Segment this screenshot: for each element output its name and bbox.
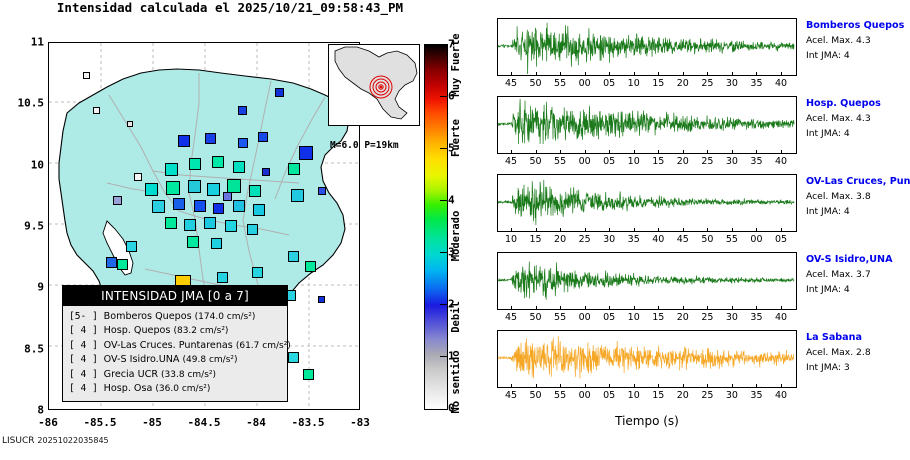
time-tick-label: 50 [701,234,713,245]
time-tick-mark [781,72,782,76]
time-tick-mark [560,72,561,76]
time-tick-mark [585,384,586,388]
time-tick-mark [732,228,733,232]
time-tick-mark [634,228,635,232]
legend-station-name: Grecia UCR [104,369,161,380]
time-tick-label: 35 [750,78,762,89]
station-intensity-marker[interactable] [173,198,185,210]
station-info: Hosp. QueposAcel. Max. 4.3Int JMA: 4 [806,98,881,139]
magnitude-depth-caption: M=6.0 P=19km [330,140,399,151]
lon-tick: -85 [142,416,162,429]
time-tick-label: 30 [726,312,738,323]
time-tick-label: 45 [505,78,517,89]
legend-row: [ 4 ] Hosp. Osa (36.0 cm/s²) [69,382,282,396]
time-tick-label: 50 [529,78,541,89]
station-intensity-marker[interactable] [178,135,190,147]
lat-tick: 9.5 [24,220,44,233]
station-intensity-marker[interactable] [189,158,201,170]
time-tick-mark [658,72,659,76]
time-tick-mark [560,150,561,154]
legend-row: [5- ] Bomberos Quepos (174.0 cm/s²) [69,310,282,324]
station-intensity-marker[interactable] [165,217,177,229]
station-max-acceleration: Acel. Max. 3.8 [806,191,910,202]
time-tick-label: 15 [652,390,664,401]
time-tick-label: 50 [529,312,541,323]
time-tick-label: 10 [628,156,640,167]
lon-tick: -85.5 [83,416,116,429]
waveform-plot[interactable] [497,18,797,76]
waveform-plot[interactable] [497,252,797,310]
colorbar-category: No sentido [450,350,462,413]
station-jma-intensity: Int JMA: 3 [806,362,871,373]
station-intensity-marker[interactable] [145,183,158,196]
station-intensity-marker[interactable] [165,163,178,176]
station-intensity-marker[interactable] [258,132,268,142]
time-tick-label: 05 [603,390,615,401]
waveform-trace [498,19,795,74]
station-info: La SabanaAcel. Max. 2.8Int JMA: 3 [806,332,871,373]
time-tick-mark [536,384,537,388]
waveform-plot[interactable] [497,96,797,154]
time-tick-label: 35 [750,390,762,401]
station-intensity-marker[interactable] [134,173,142,181]
time-tick-label: 10 [628,312,640,323]
legend-intensity-bracket: [5- ] [69,311,104,322]
time-tick-label: 30 [726,156,738,167]
waveform-trace [498,97,795,152]
time-tick-label: 55 [554,78,566,89]
time-tick-label: 20 [677,78,689,89]
time-tick-label: 55 [554,312,566,323]
inset-canvas [329,45,419,125]
time-tick-label: 40 [775,156,787,167]
station-intensity-marker[interactable] [126,241,137,252]
waveform-trace [498,253,795,308]
station-intensity-marker[interactable] [275,88,284,97]
station-intensity-marker[interactable] [152,200,165,213]
station-intensity-marker[interactable] [238,138,248,148]
time-tick-mark [707,150,708,154]
waveform-panels: 4550550005101520253035404550550005101520… [497,18,797,418]
colorbar-category: Debil [450,301,462,333]
station-intensity-marker[interactable] [184,219,196,231]
station-intensity-marker[interactable] [305,261,316,272]
time-tick-label: 00 [579,78,591,89]
time-tick-mark [511,384,512,388]
time-tick-mark [707,306,708,310]
watermark-label: LISUCR [2,436,35,446]
station-intensity-marker[interactable] [262,168,270,176]
station-intensity-marker[interactable] [303,369,314,380]
station-max-acceleration: Acel. Max. 4.3 [806,113,881,124]
time-tick-mark [585,150,586,154]
waveform-time-axis: 455055000510152025303540 [497,310,797,326]
time-tick-label: 25 [701,78,713,89]
station-intensity-marker[interactable] [249,185,261,197]
station-intensity-marker[interactable] [299,146,313,160]
time-tick-mark [609,150,610,154]
colorbar-tick-mark [440,304,447,305]
time-tick-mark [756,306,757,310]
time-tick-label: 30 [726,78,738,89]
station-intensity-marker[interactable] [318,187,326,195]
time-tick-mark [634,384,635,388]
time-tick-mark [536,150,537,154]
time-tick-label: 30 [603,234,615,245]
time-tick-label: 35 [750,156,762,167]
time-tick-label: 00 [579,390,591,401]
legend-acceleration: (61.7 cm/s²) [236,341,291,351]
time-tick-mark [511,306,512,310]
station-name[interactable]: OV-Las Cruces, Puntar [806,176,910,187]
time-tick-label: 30 [726,390,738,401]
time-tick-label: 40 [775,390,787,401]
colorbar-tick-mark [440,356,447,357]
time-tick-mark [560,384,561,388]
time-tick-label: 45 [505,390,517,401]
station-info: OV-Las Cruces, PuntarAcel. Max. 3.8Int J… [806,176,910,217]
station-info: Bomberos QueposAcel. Max. 4.3Int JMA: 4 [806,20,904,61]
time-tick-mark [511,228,512,232]
colorbar-tick-mark [440,200,447,201]
station-name[interactable]: Hosp. Quepos [806,98,881,109]
legend-row: [ 4 ] OV-S Isidro.UNA (49.8 cm/s²) [69,353,282,367]
time-tick-label: 15 [652,156,664,167]
time-tick-label: 10 [628,390,640,401]
legend-station-name: OV-S Isidro.UNA [104,354,183,365]
watermark-id: 20251022035845 [37,436,108,445]
time-tick-label: 50 [529,390,541,401]
time-tick-label: 05 [775,234,787,245]
time-tick-mark [683,150,684,154]
legend-intensity-bracket: [ 4 ] [69,383,104,394]
time-tick-label: 00 [579,156,591,167]
legend-station-name: Hosp. Quepos [104,325,174,336]
station-max-acceleration: Acel. Max. 4.3 [806,35,904,46]
epicenter-dot [380,86,383,89]
time-tick-mark [683,306,684,310]
legend-station-name: OV-Las Cruces. Puntarenas [104,340,236,351]
time-tick-label: 25 [579,234,591,245]
legend-row: [ 4 ] Grecia UCR (33.8 cm/s²) [69,368,282,382]
lon-tick: -84 [246,416,266,429]
station-intensity-marker[interactable] [233,161,245,173]
station-intensity-marker[interactable] [211,238,222,249]
time-tick-label: 20 [677,156,689,167]
station-intensity-marker[interactable] [204,217,216,229]
station-intensity-marker[interactable] [288,163,300,175]
time-tick-mark [732,150,733,154]
colorbar-category: Muy Fuerte [450,33,462,96]
waveform-trace [498,331,795,386]
legend-acceleration: (36.0 cm/s²) [155,384,210,394]
station-intensity-marker[interactable] [83,72,90,79]
legend-title: INTENSIDAD JMA [0 a 7] [63,286,287,306]
time-tick-mark [609,306,610,310]
time-tick-label: 10 [505,234,517,245]
station-intensity-marker[interactable] [225,220,237,232]
station-intensity-marker[interactable] [288,251,299,262]
time-tick-label: 15 [529,234,541,245]
waveform-time-axis: 101520253035404550550005 [497,232,797,248]
station-name[interactable]: OV-S Isidro,UNA [806,254,893,265]
time-tick-mark [756,72,757,76]
time-tick-mark [609,228,610,232]
lat-tick: 8 [37,404,44,417]
legend-station-name: Hosp. Osa [104,383,156,394]
station-jma-intensity: Int JMA: 4 [806,206,910,217]
waveform-plot[interactable] [497,330,797,388]
longitude-axis: -86-85.5-85-84.5-84-83.5-83 [0,416,460,434]
time-tick-mark [732,72,733,76]
station-jma-intensity: Int JMA: 4 [806,128,881,139]
station-intensity-marker[interactable] [291,189,304,202]
time-tick-label: 20 [677,390,689,401]
lat-tick: 10 [31,158,44,171]
station-max-acceleration: Acel. Max. 3.7 [806,269,893,280]
time-tick-label: 00 [750,234,762,245]
time-tick-label: 20 [554,234,566,245]
time-tick-mark [781,150,782,154]
station-intensity-marker[interactable] [238,106,247,115]
time-tick-mark [536,306,537,310]
colorbar-tick-mark [440,96,447,97]
legend-row: [ 4 ] Hosp. Quepos (83.2 cm/s²) [69,324,282,338]
station-intensity-marker[interactable] [233,200,245,212]
time-tick-mark [781,384,782,388]
time-tick-mark [634,150,635,154]
lon-tick: -84.5 [187,416,220,429]
time-tick-mark [732,384,733,388]
lon-tick: -83.5 [291,416,324,429]
time-tick-mark [609,384,610,388]
colorbar-tick-mark [440,148,447,149]
time-tick-label: 15 [652,312,664,323]
legend-acceleration: (33.8 cm/s²) [161,370,216,380]
watermark: LISUCR 20251022035845 [2,436,109,446]
time-tick-label: 05 [603,78,615,89]
time-tick-mark [683,228,684,232]
colorbar-tick-mark [440,252,447,253]
time-tick-label: 25 [701,390,713,401]
time-tick-label: 15 [652,78,664,89]
colorbar-category: Moderado [450,211,462,262]
lat-tick: 11 [31,36,44,49]
station-intensity-marker[interactable] [113,196,122,205]
colorbar-category: Fuerte [450,119,462,157]
time-tick-mark [560,306,561,310]
time-tick-label: 25 [701,156,713,167]
station-intensity-marker[interactable] [166,181,180,195]
time-tick-mark [756,228,757,232]
time-tick-mark [658,150,659,154]
waveform-time-axis: 455055000510152025303540 [497,388,797,404]
waveform-time-axis: 455055000510152025303540 [497,76,797,92]
legend-intensity-bracket: [ 4 ] [69,369,104,380]
time-tick-mark [585,228,586,232]
time-tick-mark [658,384,659,388]
time-tick-label: 40 [652,234,664,245]
station-intensity-marker[interactable] [288,352,299,363]
legend-station-name: Bomberos Quepos [104,311,195,322]
station-intensity-marker[interactable] [106,257,117,268]
lon-tick: -83 [350,416,370,429]
legend-acceleration: (174.0 cm/s²) [195,312,256,322]
intensity-legend: INTENSIDAD JMA [0 a 7] [5- ] Bomberos Qu… [62,285,288,402]
time-tick-mark [536,228,537,232]
time-tick-label: 40 [775,78,787,89]
station-name[interactable]: Bomberos Quepos [806,20,904,31]
legend-acceleration: (49.8 cm/s²) [183,355,238,365]
time-tick-label: 55 [726,234,738,245]
time-tick-mark [732,306,733,310]
time-tick-label: 40 [775,312,787,323]
time-tick-mark [683,72,684,76]
time-tick-label: 45 [505,156,517,167]
station-intensity-marker[interactable] [207,183,220,196]
legend-acceleration: (83.2 cm/s²) [173,326,228,336]
station-intensity-marker[interactable] [127,121,133,127]
lat-tick: 10.5 [18,97,45,110]
map-title: Intensidad calculada el 2025/10/21_09:58… [0,0,460,15]
time-tick-mark [560,228,561,232]
time-tick-mark [511,72,512,76]
time-tick-label: 55 [554,156,566,167]
time-tick-mark [683,384,684,388]
time-tick-label: 35 [750,312,762,323]
time-tick-mark [756,150,757,154]
station-intensity-marker[interactable] [188,180,201,193]
time-tick-label: 00 [579,312,591,323]
legend-intensity-bracket: [ 4 ] [69,340,104,351]
station-jma-intensity: Int JMA: 4 [806,50,904,61]
time-tick-mark [609,72,610,76]
time-tick-mark [511,150,512,154]
lat-tick: 9 [37,281,44,294]
colorbar-tick: 4 [448,194,455,207]
time-tick-mark [585,306,586,310]
legend-intensity-bracket: [ 4 ] [69,325,104,336]
time-tick-mark [707,72,708,76]
time-tick-mark [634,306,635,310]
time-tick-mark [707,384,708,388]
legend-rows: [5- ] Bomberos Quepos (174.0 cm/s²)[ 4 ]… [63,306,287,401]
station-intensity-marker[interactable] [187,236,199,248]
time-tick-label: 45 [677,234,689,245]
waveform-time-axis: 455055000510152025303540 [497,154,797,170]
waveform-xaxis-title: Tiempo (s) [497,414,797,428]
epicenter-inset-map[interactable] [328,44,420,126]
legend-intensity-bracket: [ 4 ] [69,354,104,365]
time-tick-label: 20 [677,312,689,323]
station-max-acceleration: Acel. Max. 2.8 [806,347,871,358]
time-tick-label: 05 [603,156,615,167]
time-tick-label: 10 [628,78,640,89]
station-intensity-marker[interactable] [223,192,232,201]
lon-tick: -86 [38,416,58,429]
time-tick-mark [585,72,586,76]
station-intensity-marker[interactable] [93,107,100,114]
time-tick-label: 25 [701,312,713,323]
station-intensity-marker[interactable] [117,259,128,270]
latitude-axis: 1110.5109.598.58 [0,0,44,460]
station-intensity-marker[interactable] [217,272,228,283]
time-tick-label: 45 [505,312,517,323]
time-tick-label: 55 [554,390,566,401]
time-tick-mark [634,72,635,76]
time-tick-mark [658,228,659,232]
station-intensity-marker[interactable] [318,296,325,303]
station-intensity-marker[interactable] [252,267,263,278]
time-tick-mark [707,228,708,232]
station-name[interactable]: La Sabana [806,332,871,343]
time-tick-mark [781,228,782,232]
waveform-plot[interactable] [497,174,797,232]
time-tick-label: 35 [628,234,640,245]
time-tick-mark [756,384,757,388]
time-tick-label: 50 [529,156,541,167]
station-intensity-marker[interactable] [247,224,258,235]
station-info: OV-S Isidro,UNAAcel. Max. 3.7Int JMA: 4 [806,254,893,295]
station-intensity-marker[interactable] [213,203,224,214]
legend-row: [ 4 ] OV-Las Cruces. Puntarenas (61.7 cm… [69,339,282,353]
waveform-trace [498,175,795,230]
time-tick-mark [658,306,659,310]
lat-tick: 8.5 [24,342,44,355]
station-intensity-marker[interactable] [212,156,224,168]
time-tick-mark [536,72,537,76]
station-intensity-marker[interactable] [227,179,241,193]
station-jma-intensity: Int JMA: 4 [806,284,893,295]
station-intensity-marker[interactable] [205,133,216,144]
station-intensity-marker[interactable] [194,200,206,212]
time-tick-label: 05 [603,312,615,323]
station-intensity-marker[interactable] [253,204,265,216]
time-tick-mark [781,306,782,310]
